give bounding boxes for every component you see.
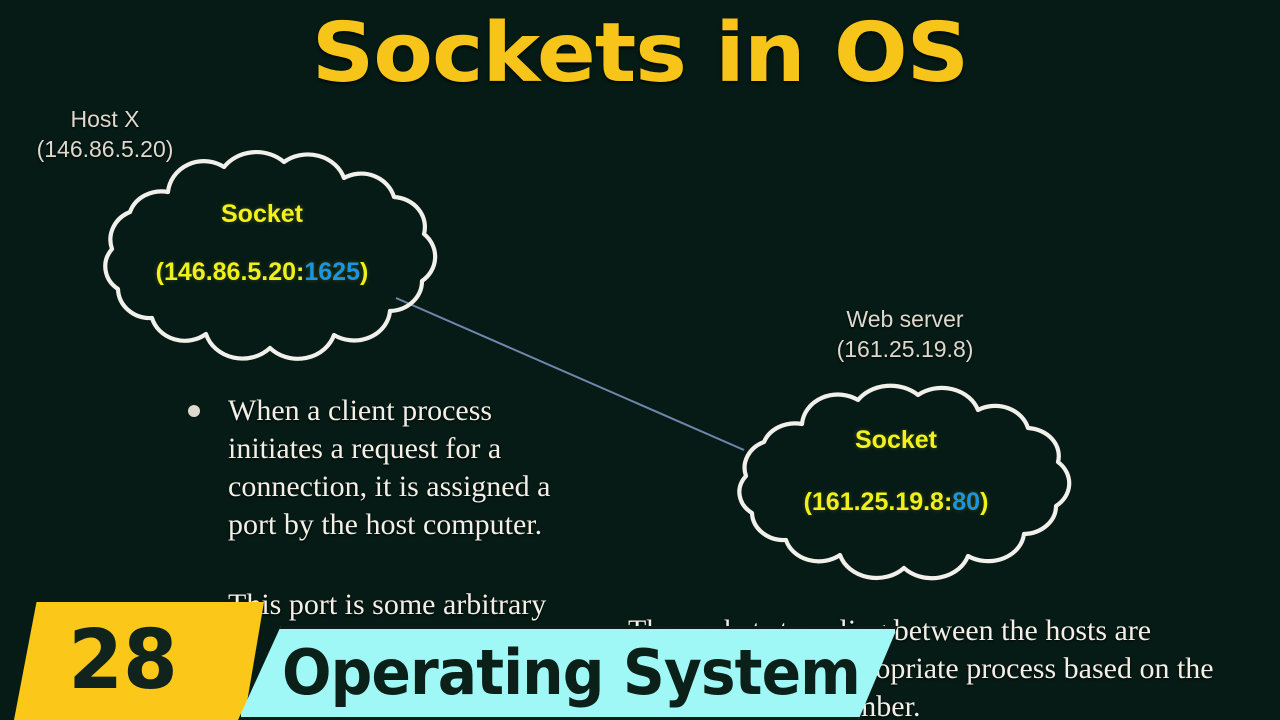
page-title: Sockets in OS <box>0 6 1280 102</box>
server-socket-address: (161.25.19.8:80) <box>706 488 1086 517</box>
episode-badge: 28 <box>14 602 264 720</box>
server-socket-cloud: Socket (161.25.19.8:80) <box>706 382 1086 582</box>
course-banner: Operating System <box>238 626 898 720</box>
web-server-name: Web server <box>846 306 963 332</box>
server-socket-port: 80 <box>952 488 980 516</box>
client-socket-address: (146.86.5.20:1625) <box>72 258 452 287</box>
left-bullet-item-2: This port is some arbitrary <box>228 586 608 624</box>
client-socket-label: Socket <box>72 200 452 229</box>
client-socket-ip: (146.86.5.20: <box>156 258 305 286</box>
client-socket-paren: ) <box>360 258 368 286</box>
server-socket-paren: ) <box>980 488 988 516</box>
cloud-shape-icon <box>72 148 452 363</box>
client-socket-port: 1625 <box>304 258 360 286</box>
course-name: Operating System <box>261 629 881 717</box>
left-bullet-item-1: When a client process initiates a reques… <box>188 392 568 544</box>
slide-canvas: Sockets in OS Host X (146.86.5.20) Web s… <box>0 0 1280 720</box>
episode-number: 28 <box>18 602 227 720</box>
left-bullet-1-text: When a client process initiates a reques… <box>228 392 568 544</box>
bullet-dot-icon <box>188 405 200 417</box>
host-x-name: Host X <box>70 106 139 132</box>
server-socket-label: Socket <box>706 426 1086 455</box>
web-server-address: (161.25.19.8) <box>800 334 1010 364</box>
server-socket-ip: (161.25.19.8: <box>804 488 953 516</box>
web-server-caption: Web server (161.25.19.8) <box>800 304 1010 364</box>
left-bullet-2-text: This port is some arbitrary <box>228 588 546 621</box>
client-socket-cloud: Socket (146.86.5.20:1625) <box>72 148 452 363</box>
cloud-shape-icon <box>706 382 1086 582</box>
